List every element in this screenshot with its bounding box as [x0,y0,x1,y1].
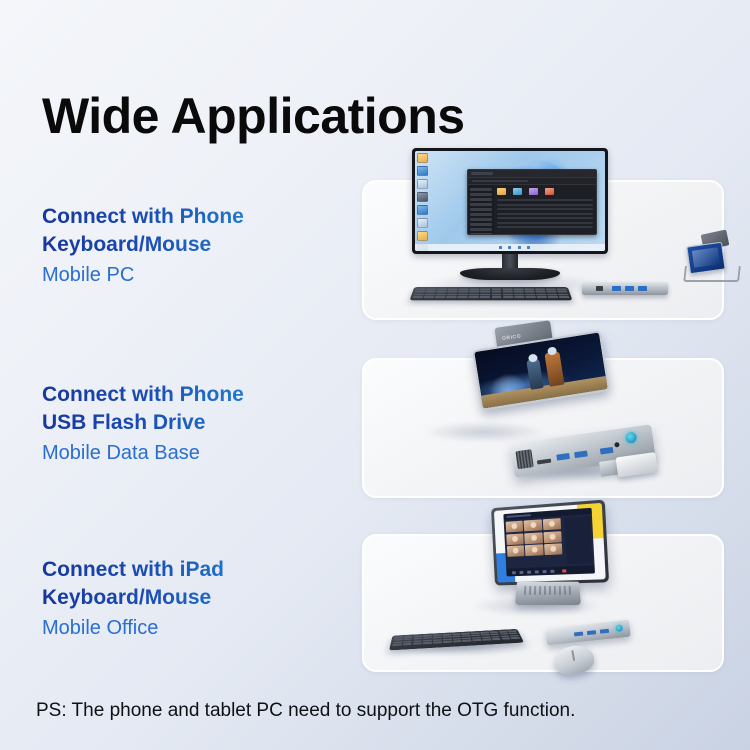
desktop-icon-column [417,153,430,251]
astronaut-figure [527,358,545,390]
desktop-icon [417,192,428,202]
astronaut-figure [545,350,565,386]
scene-monitor-setup [364,182,722,318]
audio-jack [614,442,620,448]
keyboard-row [413,294,568,296]
desktop-icon [417,231,428,241]
folder-icon [497,188,506,195]
ipad-stand [515,582,581,605]
participant-tile [525,545,543,557]
scene-ipad-office [364,536,722,670]
ipad-device [491,500,609,586]
explorer-nav-pane [468,185,494,235]
mouse-device [552,643,596,678]
monitor-base [460,268,560,280]
folder-icon [513,188,522,195]
explorer-content-pane [494,185,596,235]
participant-tile [544,531,562,543]
desktop-icon [417,205,428,215]
monitor-device [412,148,608,254]
feature-1-headline-line2: Keyboard/Mouse [42,231,362,259]
participant-tile [506,521,524,533]
page-root: Wide Applications Connect with Phone Key… [0,0,750,750]
participant-tile [525,532,543,544]
explorer-addressbar [468,178,596,185]
feature-1-subtitle: Mobile PC [42,260,362,290]
feature-3-headline-line1: Connect with iPad [42,556,362,584]
phone-stand-assembly: ORICO [482,324,602,442]
desktop-icon [417,166,428,176]
hub-vent [515,449,533,469]
file-list [497,199,593,228]
feature-2-subtitle: Mobile Data Base [42,438,362,468]
folder-icon [545,188,554,195]
phone-screen-movie [474,332,607,408]
meeting-controls-bar [506,565,595,576]
participant-tile [507,546,525,558]
keyboard-device [410,287,573,300]
chat-panel [564,517,592,565]
desktop-icon [417,218,428,228]
file-explorer-window [467,169,597,235]
footer-note: PS: The phone and tablet PC need to supp… [36,700,575,722]
stand-legs [683,266,741,282]
video-conference-app [503,508,595,576]
feature-1-headline-line1: Connect with Phone [42,203,362,231]
keyboard-row [414,291,567,293]
feature-text-block-3: Connect with iPad Keyboard/Mouse Mobile … [42,556,362,643]
desktop-icon [417,153,428,163]
ipad-screen [494,503,606,583]
monitor-screen [415,151,605,251]
folder-icon [529,188,538,195]
feature-2-photo-card: ORICO [362,358,724,498]
card-slot [537,459,551,465]
participant-tile [543,519,561,531]
phone-stand-assembly [682,238,740,282]
usb-hub-device [582,282,668,295]
feature-3-photo-card [362,534,724,672]
hub-indicator-light [625,431,637,443]
feature-2-headline-line1: Connect with Phone [42,381,362,409]
participant-grid [504,516,565,559]
orico-brand-label: ORICO [502,333,522,342]
scene-phone-flashdrive: ORICO [364,360,722,496]
usb-hub-device [545,620,630,646]
movie-ground [481,376,607,408]
page-title: Wide Applications [42,89,465,144]
participant-tile [524,520,542,532]
keyboard-row [415,288,567,290]
feature-3-subtitle: Mobile Office [42,613,362,643]
feature-text-block-1: Connect with Phone Keyboard/Mouse Mobile… [42,203,362,290]
desktop-icon [417,179,428,189]
feature-text-block-2: Connect with Phone USB Flash Drive Mobil… [42,381,362,468]
participant-tile [544,544,562,556]
windows-taskbar [415,244,605,251]
flash-drive-body [616,452,658,477]
feature-1-photo-card [362,180,724,320]
feature-2-headline-line2: USB Flash Drive [42,409,362,437]
explorer-body [468,185,596,235]
hub-indicator-light [615,624,623,632]
explorer-titlebar [468,170,596,178]
folder-row [497,188,593,195]
phone-device [472,330,610,411]
keyboard-row [412,296,569,298]
participant-tile [506,533,524,545]
feature-3-headline-line2: Keyboard/Mouse [42,584,362,612]
